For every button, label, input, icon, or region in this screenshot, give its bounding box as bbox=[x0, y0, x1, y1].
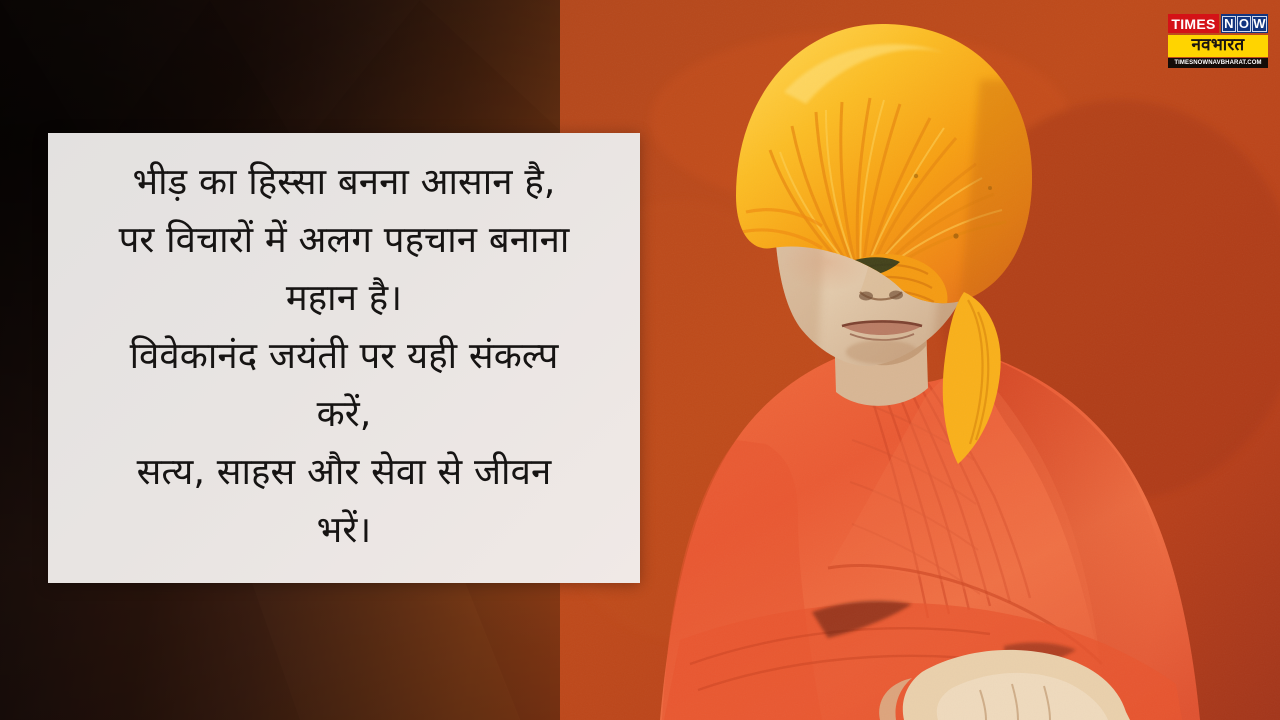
logo-now-letter-n: N bbox=[1222, 16, 1236, 32]
logo-top-row: TIMES N O W bbox=[1168, 14, 1268, 33]
image-canvas: भीड़ का हिस्सा बनना आसान है, पर विचारों … bbox=[0, 0, 1280, 720]
logo-hindi-text: नवभारत bbox=[1168, 35, 1268, 57]
quote-card: भीड़ का हिस्सा बनना आसान है, पर विचारों … bbox=[48, 133, 640, 583]
quote-text: भीड़ का हिस्सा बनना आसान है, पर विचारों … bbox=[64, 153, 624, 559]
logo-now-letter-w: W bbox=[1252, 16, 1266, 32]
logo-times-text: TIMES bbox=[1168, 14, 1219, 33]
logo-now-text: N O W bbox=[1221, 14, 1269, 33]
logo-url-text: TIMESNOWNAVBHARAT.COM bbox=[1168, 58, 1268, 68]
vivekananda-portrait bbox=[560, 0, 1280, 720]
logo-now-letter-o: O bbox=[1237, 16, 1251, 32]
channel-logo[interactable]: TIMES N O W नवभारत TIMESNOWNAVBHARAT.COM bbox=[1168, 14, 1268, 68]
